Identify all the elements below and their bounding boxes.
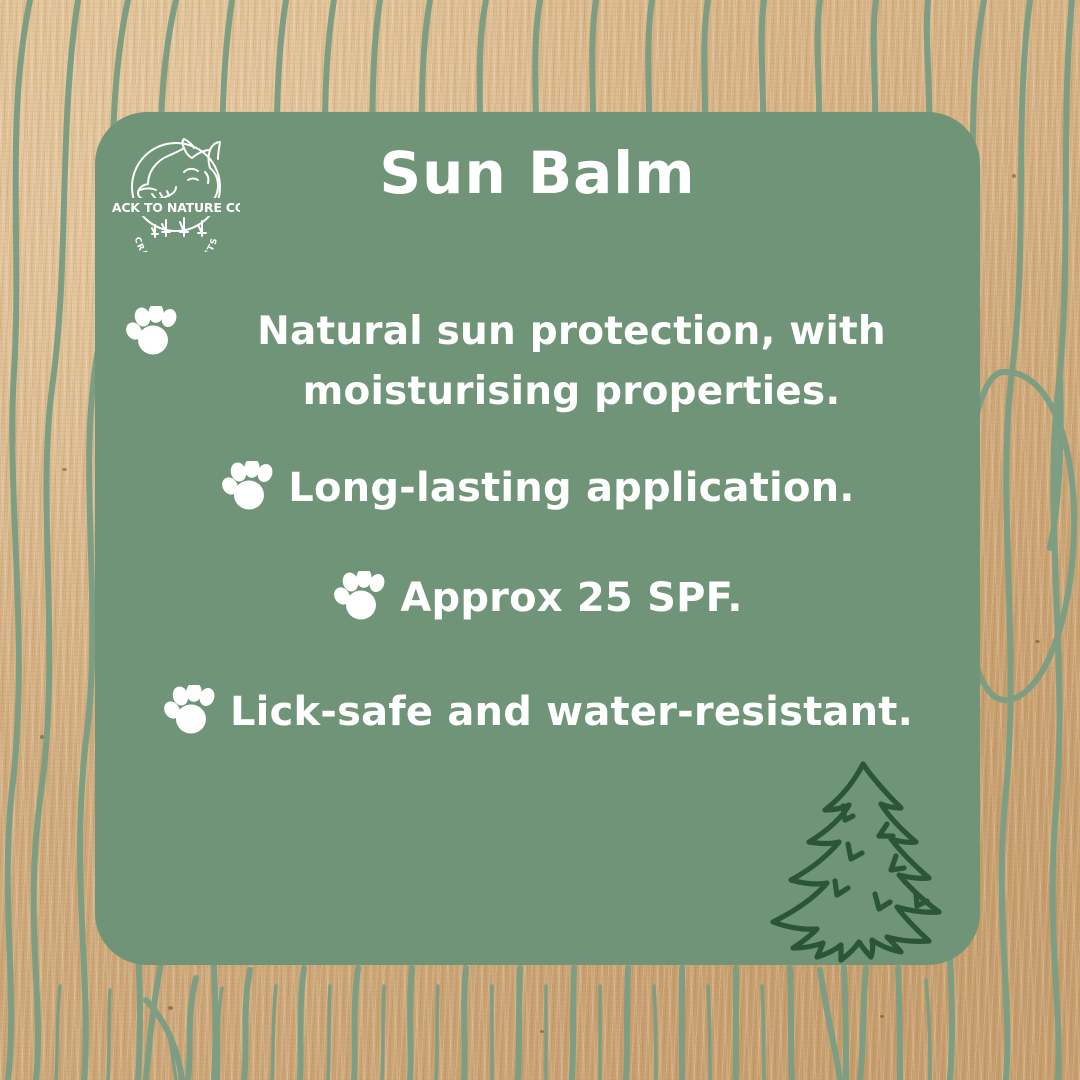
list-item-label: Approx 25 SPF. — [400, 567, 742, 629]
product-info-card: BACK TO NATURE CO. CRAFTED FOR PETS Sun … — [95, 112, 980, 965]
list-item: Natural sun protection, with moisturisin… — [117, 302, 958, 423]
list-item: Lick-safe and water-resistant. — [117, 681, 958, 743]
poster-canvas: BACK TO NATURE CO. CRAFTED FOR PETS Sun … — [0, 0, 1080, 1080]
list-item: Long-lasting application. — [117, 457, 958, 519]
feature-list: Natural sun protection, with moisturisin… — [95, 302, 980, 743]
paw-icon — [124, 306, 178, 356]
list-item-label: Long-lasting application. — [288, 457, 854, 519]
paw-icon — [162, 685, 216, 735]
page-title: Sun Balm — [95, 144, 980, 202]
list-item: Approx 25 SPF. — [117, 567, 958, 629]
paw-icon — [220, 461, 274, 511]
list-item-label: Natural sun protection, with moisturisin… — [192, 302, 952, 423]
list-item-label: Lick-safe and water-resistant. — [230, 681, 913, 743]
paw-icon — [332, 571, 386, 621]
logo-arc-text: CRAFTED FOR PETS — [132, 236, 221, 252]
logo-banner-text: BACK TO NATURE CO. — [112, 200, 240, 215]
pine-tree-icon — [759, 754, 974, 969]
